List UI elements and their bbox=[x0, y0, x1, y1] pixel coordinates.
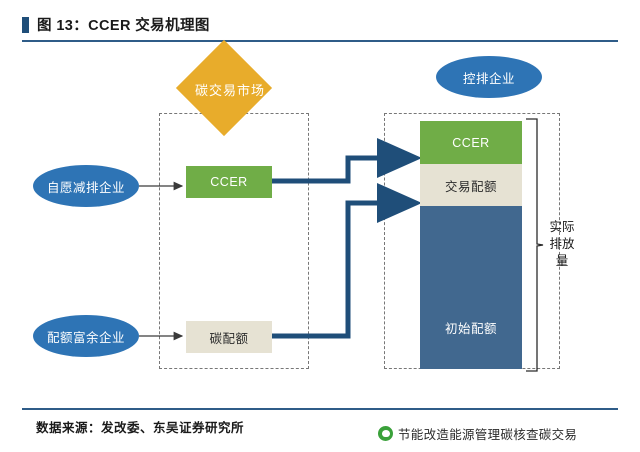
stack-block-initial-quota-label: 初始配额 bbox=[445, 318, 497, 337]
watermark: 节能改造能源管理碳核查碳交易 bbox=[378, 424, 577, 443]
stack-block-traded-quota-label: 交易配额 bbox=[445, 176, 497, 195]
node-carbon-market-label: 碳交易市场 bbox=[164, 58, 296, 120]
header-divider bbox=[22, 40, 618, 42]
page-title: 图 13：CCER 交易机理图 bbox=[37, 14, 210, 35]
title-accent-bar bbox=[22, 17, 29, 33]
stack-block-ccer-label: CCER bbox=[452, 136, 489, 150]
footer-divider bbox=[22, 408, 618, 410]
node-market-ccer: CCER bbox=[186, 166, 272, 198]
node-voluntary-enterprise: 自愿减排企业 bbox=[33, 165, 139, 207]
watermark-text: 节能改造能源管理碳核查碳交易 bbox=[398, 424, 577, 443]
node-voluntary-enterprise-label: 自愿减排企业 bbox=[47, 177, 125, 196]
figure-title-bar: 图 13：CCER 交易机理图 bbox=[22, 14, 210, 35]
bracket-actual-emission-label: 实际排放量 bbox=[549, 219, 575, 270]
leaf-icon bbox=[378, 426, 393, 441]
node-surplus-enterprise-label: 配额富余企业 bbox=[47, 327, 125, 346]
node-surplus-enterprise: 配额富余企业 bbox=[33, 315, 139, 357]
node-market-quota-label: 碳配额 bbox=[209, 328, 248, 347]
bracket-actual-emission bbox=[524, 118, 546, 372]
node-market-quota: 碳配额 bbox=[186, 321, 272, 353]
node-carbon-market: 碳交易市场 bbox=[164, 58, 296, 120]
node-market-ccer-label: CCER bbox=[210, 175, 247, 189]
node-controlled-enterprise: 控排企业 bbox=[436, 56, 542, 98]
stack-block-ccer: CCER bbox=[420, 121, 522, 164]
diagram-canvas: 碳交易市场 控排企业 自愿减排企业 配额富余企业 CCER 碳配额 CCER 交… bbox=[22, 44, 618, 406]
figure-page: 图 13：CCER 交易机理图 bbox=[0, 0, 640, 452]
node-controlled-enterprise-label: 控排企业 bbox=[463, 68, 515, 87]
stack-block-initial-quota: 初始配额 bbox=[420, 206, 522, 369]
stack-block-traded-quota: 交易配额 bbox=[420, 164, 522, 206]
source-note: 数据来源：发改委、东吴证券研究所 bbox=[36, 417, 244, 436]
